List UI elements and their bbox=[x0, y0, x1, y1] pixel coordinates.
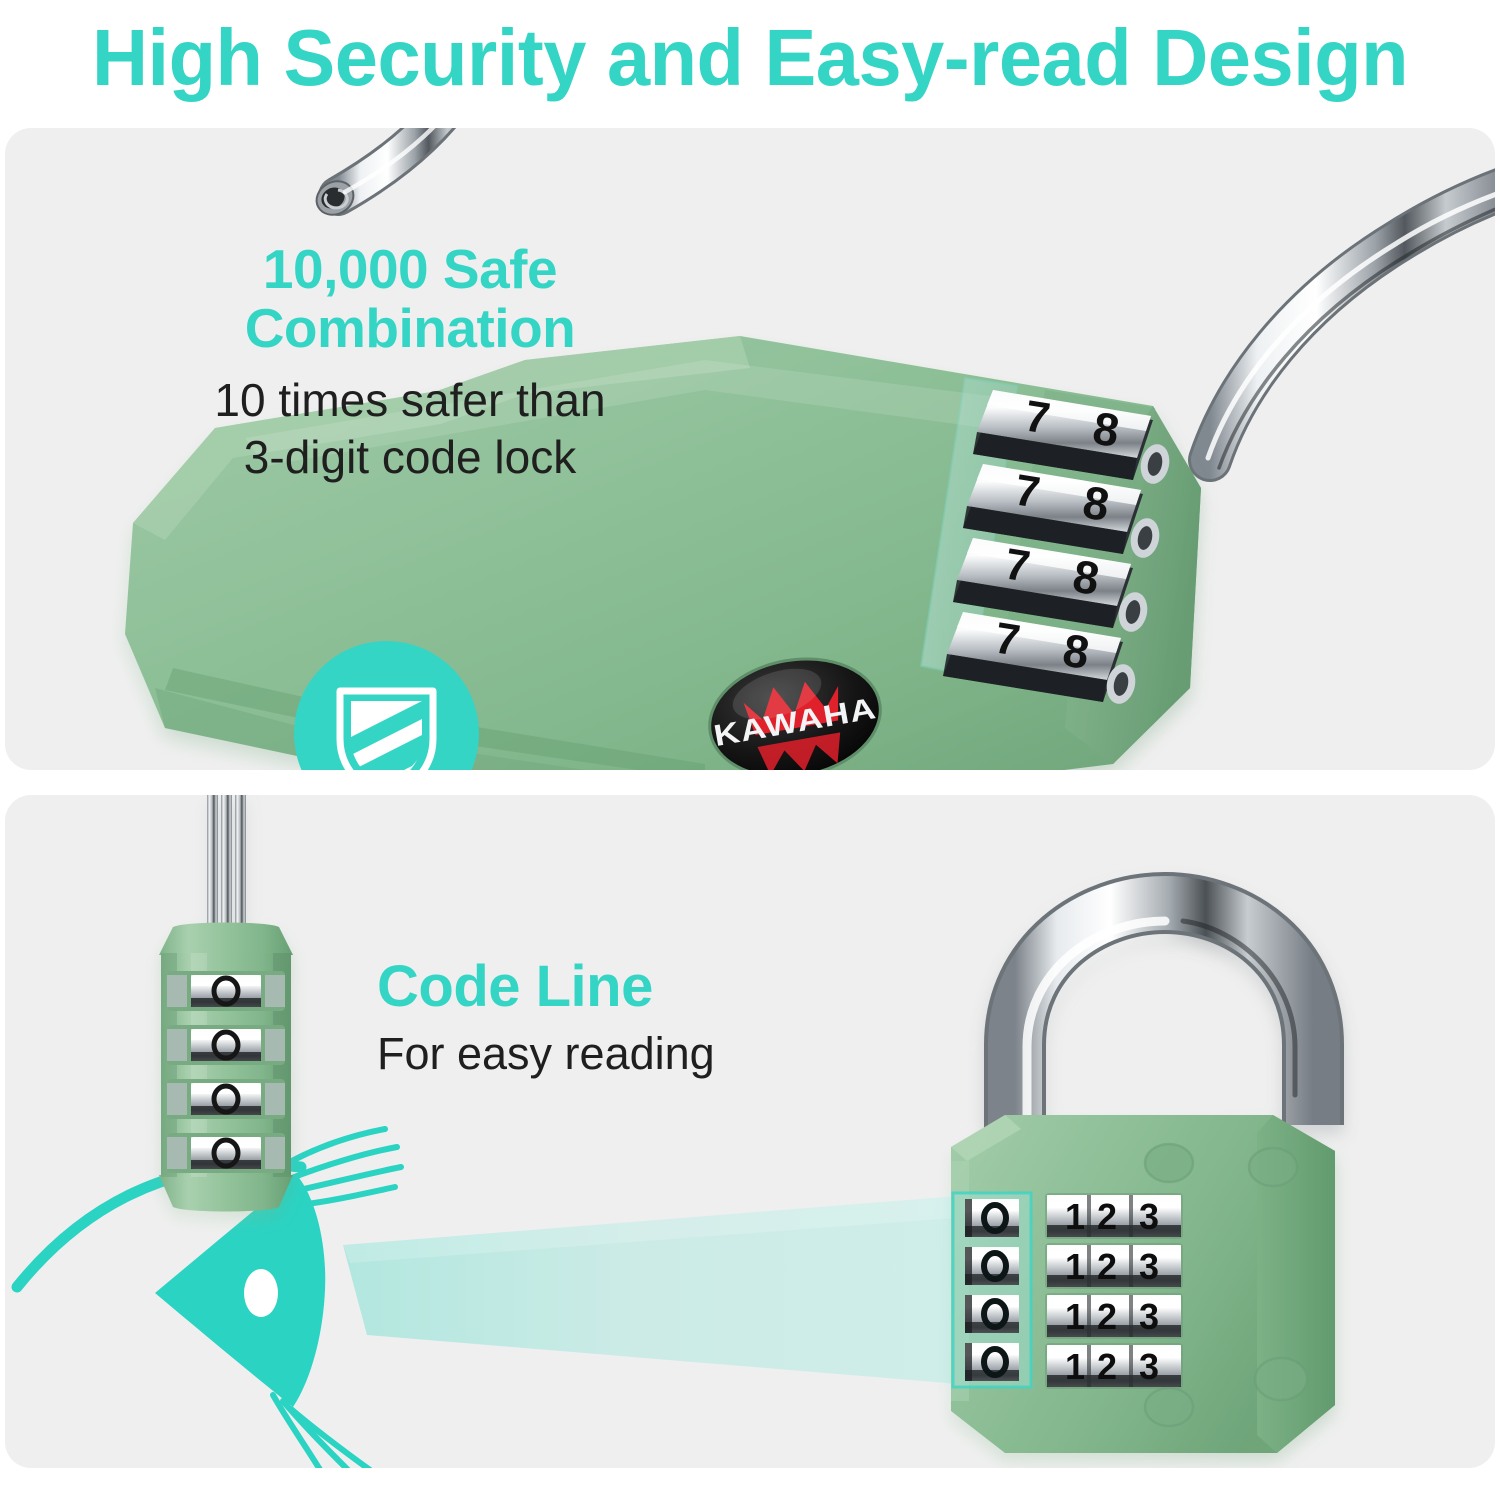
feature-subtitle: For easy reading bbox=[377, 1028, 777, 1080]
feature-title: 10,000 Safe Combination bbox=[175, 240, 645, 358]
svg-text:1: 1 bbox=[1065, 1296, 1085, 1337]
vision-beam bbox=[343, 1193, 995, 1387]
feature-subtitle-line-1: 10 times safer than bbox=[175, 372, 645, 430]
front-dial: 1 2 3 bbox=[1045, 1193, 1183, 1239]
side-dial bbox=[167, 1133, 285, 1173]
svg-text:1: 1 bbox=[1065, 1196, 1085, 1237]
code-line-digit bbox=[965, 1295, 1019, 1333]
infographic-root: High Security and Easy-read Design bbox=[0, 0, 1500, 1498]
side-dial bbox=[167, 1079, 285, 1119]
svg-text:3: 3 bbox=[1139, 1346, 1159, 1387]
svg-text:2: 2 bbox=[1097, 1296, 1117, 1337]
code-line-digit bbox=[965, 1343, 1019, 1381]
feature-text-block: 10,000 Safe Combination 10 times safer t… bbox=[175, 240, 645, 487]
side-dial bbox=[167, 971, 285, 1011]
page-title: High Security and Easy-read Design bbox=[23, 2, 1478, 114]
svg-text:3: 3 bbox=[1139, 1246, 1159, 1287]
front-dial: 1 2 3 bbox=[1045, 1293, 1183, 1339]
panel-high-security: 7 8 7 8 bbox=[5, 128, 1495, 770]
feature-text-block: Code Line For easy reading bbox=[377, 957, 777, 1080]
bottom-panel-artwork: 1 2 3 1 2 3 bbox=[5, 795, 1495, 1468]
code-line-digit bbox=[965, 1247, 1019, 1285]
feature-subtitle: 10 times safer than 3-digit code lock bbox=[175, 372, 645, 487]
feature-title-line-2: Combination bbox=[175, 299, 645, 358]
svg-text:1: 1 bbox=[1065, 1246, 1085, 1287]
side-dial bbox=[167, 1025, 285, 1065]
svg-text:2: 2 bbox=[1097, 1346, 1117, 1387]
padlock-front-view: 1 2 3 1 2 3 bbox=[951, 903, 1335, 1453]
feature-title-line-1: 10,000 Safe bbox=[175, 240, 645, 299]
shield-icon bbox=[294, 641, 479, 770]
svg-text:3: 3 bbox=[1139, 1296, 1159, 1337]
front-dial: 1 2 3 bbox=[1045, 1343, 1183, 1389]
feature-subtitle-line-2: 3-digit code lock bbox=[175, 429, 645, 487]
code-line-digit bbox=[965, 1199, 1019, 1237]
feature-title: Code Line bbox=[377, 957, 777, 1018]
side-padlock-edge-view bbox=[159, 795, 293, 1212]
front-dial: 1 2 3 bbox=[1045, 1243, 1183, 1289]
svg-text:2: 2 bbox=[1097, 1196, 1117, 1237]
svg-text:3: 3 bbox=[1139, 1196, 1159, 1237]
panel-code-line: 1 2 3 1 2 3 bbox=[5, 795, 1495, 1468]
shackle-short-leg bbox=[311, 128, 475, 221]
svg-text:2: 2 bbox=[1097, 1246, 1117, 1287]
svg-text:1: 1 bbox=[1065, 1346, 1085, 1387]
